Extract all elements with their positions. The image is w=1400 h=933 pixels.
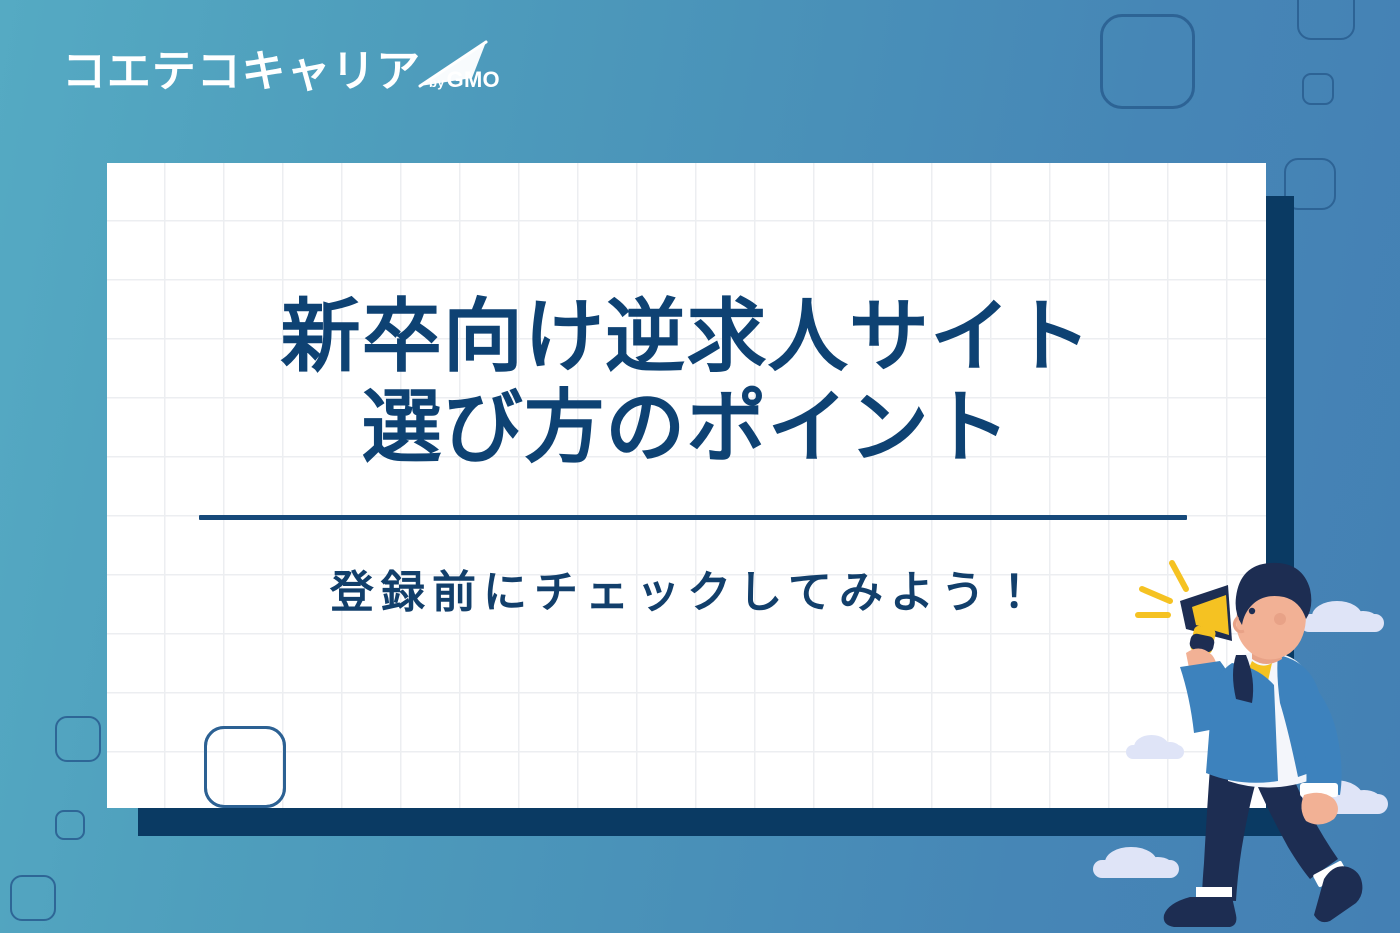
back-leg: [1202, 767, 1258, 901]
hero-card: 新卒向け逆求人サイト 選び方のポイント 登録前にチェックしてみよう！: [107, 163, 1266, 808]
page-title: 新卒向け逆求人サイト 選び方のポイント: [281, 291, 1093, 473]
deco-square-left-2: [55, 810, 85, 840]
brand-logo[interactable]: コエテコキャリア byGMO: [62, 50, 500, 94]
megaphone-sound-lines: [1138, 563, 1186, 615]
deco-square-left-1: [55, 716, 101, 762]
card-shadow-bottom: [138, 808, 1294, 836]
deco-square-bottom-mid: [204, 726, 286, 808]
eye: [1249, 608, 1255, 614]
fist: [1301, 793, 1338, 825]
megaphone-icon: [1180, 585, 1232, 655]
hero-content: 新卒向け逆求人サイト 選び方のポイント 登録前にチェックしてみよう！: [107, 163, 1266, 808]
brand-logo-text: コエテコキャリア: [62, 50, 421, 94]
title-divider: [199, 515, 1187, 520]
page-subtitle: 登録前にチェックしてみよう！: [330, 556, 1043, 620]
cloud-bottom-mid: [1093, 860, 1179, 878]
deco-square-right-small: [1302, 73, 1334, 105]
shoe-back: [1164, 897, 1237, 927]
cloud-card-left: [1126, 745, 1184, 759]
brand-logo-by-gmo: byGMO: [429, 69, 500, 94]
poster-canvas: 新卒向け逆求人サイト 選び方のポイント 登録前にチェックしてみよう！ コエテコキ…: [0, 0, 1400, 933]
deco-square-top-right-3: [1100, 14, 1195, 109]
deco-square-left-3: [10, 875, 56, 921]
brand-by-label: by: [429, 75, 445, 90]
ear: [1274, 613, 1286, 625]
page-title-line-2: 選び方のポイント: [281, 382, 1093, 473]
page-title-line-1: 新卒向け逆求人サイト: [281, 292, 1093, 381]
brand-gmo-label: GMO: [447, 67, 500, 92]
deco-square-top-right-2: [1297, 0, 1355, 40]
